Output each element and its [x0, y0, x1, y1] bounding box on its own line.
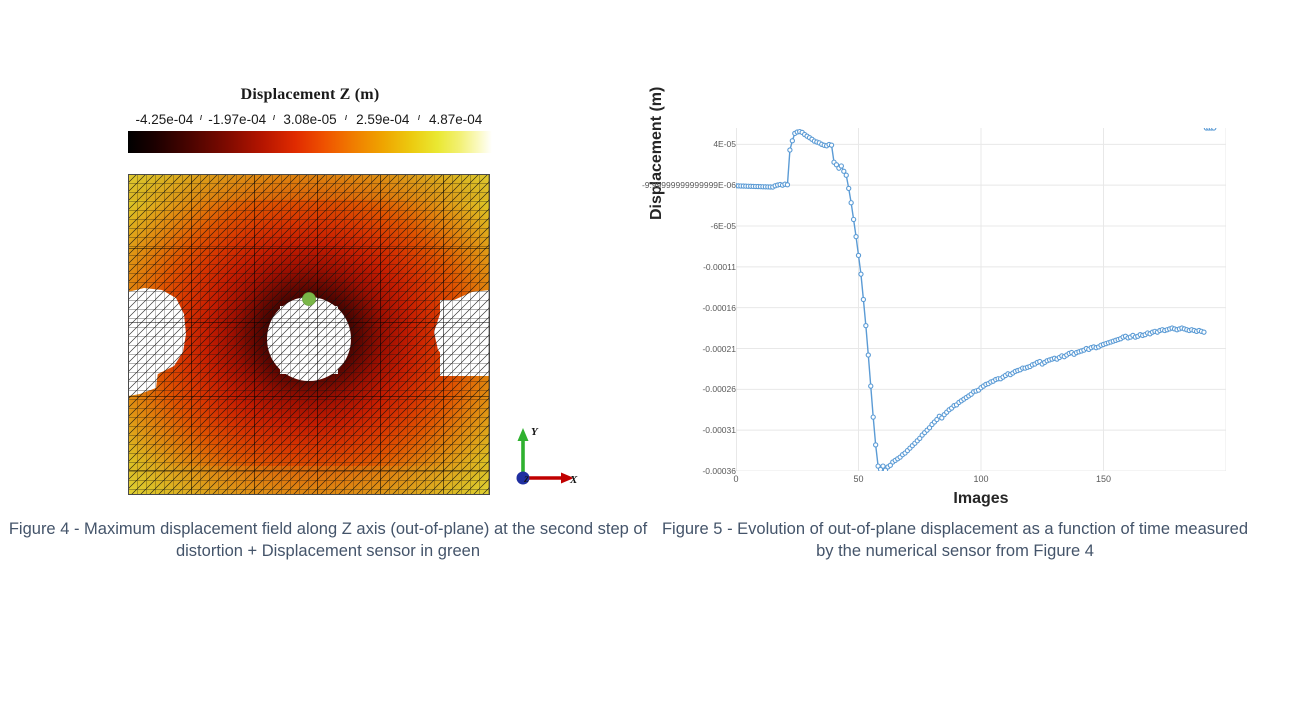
chart-series-markers: [736, 128, 1216, 471]
y-tick-label-6: -0.00026: [702, 384, 736, 394]
data-point: [869, 384, 873, 388]
chart-x-axis-title: Images: [736, 490, 1226, 508]
data-point: [847, 186, 851, 190]
axis-triad: Y X Z: [512, 420, 582, 492]
colorbar-minor-tick-1: [200, 115, 202, 120]
svg-text:Z: Z: [523, 475, 529, 484]
svg-text:X: X: [569, 474, 578, 486]
data-point: [881, 464, 885, 468]
svg-text:Y: Y: [531, 426, 539, 438]
figure5-caption: Figure 5 - Evolution of out-of-plane dis…: [660, 519, 1250, 563]
data-point: [790, 139, 794, 143]
chart-plot-area: [736, 128, 1226, 471]
data-point: [852, 217, 856, 221]
chart-y-axis-tick-labels: 4E-05-9.99999999999999E-06-6E-05-0.00011…: [630, 95, 736, 475]
displacement-field-mesh-plot: [128, 174, 490, 495]
chart-series-line: [736, 132, 1204, 471]
colorbar-tick-4: 4.87e-04: [429, 112, 482, 127]
data-point: [854, 235, 858, 239]
data-point: [859, 272, 863, 276]
data-point: [856, 253, 860, 257]
data-point: [829, 143, 833, 147]
colorbar-minor-tick-2: [273, 115, 275, 120]
chart-x-axis-tick-labels: 050100150: [736, 474, 1226, 490]
colorbar-minor-tick-3: [345, 115, 347, 120]
x-tick-label-0: 0: [733, 474, 738, 484]
colorbar-minor-tick-4: [418, 115, 420, 120]
colorbar-tick-1: -1.97e-04: [208, 112, 266, 127]
y-tick-label-7: -0.00031: [702, 425, 736, 435]
chart-gridlines: [736, 128, 1226, 471]
data-point: [871, 415, 875, 419]
x-tick-label-2: 100: [973, 474, 988, 484]
data-point: [844, 173, 848, 177]
figure4-panel: Displacement Z (m) -4.25e-04-1.97e-043.0…: [0, 0, 655, 580]
y-tick-label-2: -6E-05: [710, 221, 736, 231]
displacement-sensor-marker: [303, 293, 316, 306]
data-point: [839, 164, 843, 168]
data-point: [849, 201, 853, 205]
y-tick-label-5: -0.00021: [702, 344, 736, 354]
colorbar-title: Displacement Z (m): [0, 86, 620, 104]
y-tick-label-3: -0.00011: [703, 262, 736, 272]
data-point: [1202, 330, 1206, 334]
data-point: [874, 443, 878, 447]
data-point: [861, 297, 865, 301]
colorbar-tick-3: 2.59e-04: [356, 112, 409, 127]
y-tick-label-8: -0.00036: [702, 466, 736, 476]
figure5-chart-panel: Displacement (m) 4E-05-9.99999999999999E…: [630, 95, 1250, 515]
y-tick-label-0: 4E-05: [713, 139, 736, 149]
data-point: [866, 353, 870, 357]
series-line-displacement: [736, 132, 1204, 471]
data-point: [864, 324, 868, 328]
colorbar-tick-labels: -4.25e-04-1.97e-043.08e-052.59e-044.87e-…: [128, 112, 492, 128]
colorbar-tick-0: -4.25e-04: [135, 112, 193, 127]
data-point: [785, 183, 789, 187]
colorbar-gradient: [128, 131, 492, 153]
colorbar-tick-2: 3.08e-05: [283, 112, 336, 127]
y-tick-label-1: -9.99999999999999E-06: [642, 180, 736, 190]
x-tick-label-3: 150: [1096, 474, 1111, 484]
data-point: [788, 148, 792, 152]
x-tick-label-1: 50: [853, 474, 863, 484]
data-point: [1212, 128, 1216, 130]
figure4-caption: Figure 4 - Maximum displacement field al…: [8, 519, 648, 563]
y-tick-label-4: -0.00016: [702, 303, 736, 313]
